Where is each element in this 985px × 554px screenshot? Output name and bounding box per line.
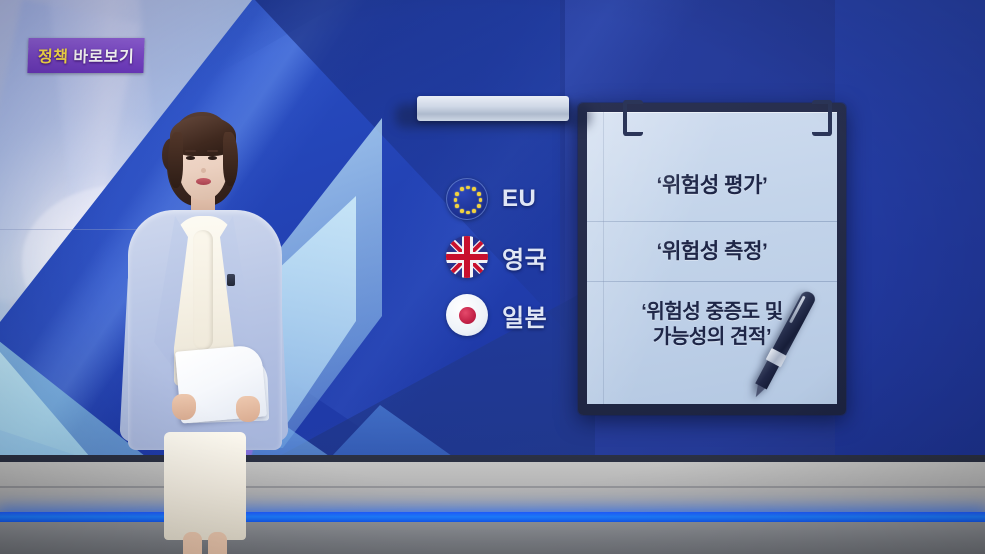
anchor-hand-right xyxy=(236,396,260,422)
anchor-leg-left xyxy=(183,532,202,554)
eu-star xyxy=(466,211,470,215)
anchor-leg-right xyxy=(208,532,227,554)
anchor-scarf xyxy=(193,230,213,350)
eu-star xyxy=(472,209,476,213)
clipboard-graphic: ‘위험성 평가’ ‘위험성 측정’ ‘위험성 중증도 및 가능성의 견적’ xyxy=(578,103,846,415)
clipboard-entry: ‘위험성 측정’ xyxy=(587,222,837,282)
eu-star xyxy=(466,186,470,190)
uk-flag-icon xyxy=(446,236,488,278)
eu-star xyxy=(455,204,459,208)
flag-label-japan: 일본 xyxy=(502,298,547,333)
anchor-mouth xyxy=(196,178,211,185)
program-badge-rest: 바로보기 xyxy=(73,49,134,66)
eu-star xyxy=(479,198,483,202)
clipboard-clip-bracket-right xyxy=(812,100,832,136)
clipboard-entry-text: ‘위험성 평가’ xyxy=(657,173,768,199)
clipboard-entry-text: ‘위험성 중증도 및 가능성의 견적’ xyxy=(641,300,782,350)
eu-flag-icon xyxy=(446,178,488,220)
broadcast-frame: 정책 바로보기 EU xyxy=(0,0,985,554)
eu-star xyxy=(460,187,464,191)
anchor-eye-left xyxy=(186,156,195,160)
flag-list-item-eu: EU xyxy=(446,178,547,220)
clipboard-entry-list: ‘위험성 평가’ ‘위험성 측정’ ‘위험성 중증도 및 가능성의 견적’ xyxy=(587,150,837,404)
anchor-eye-right xyxy=(208,156,217,160)
clipboard-paper: ‘위험성 평가’ ‘위험성 측정’ ‘위험성 중증도 및 가능성의 견적’ xyxy=(587,112,837,404)
clipboard-clip-bar xyxy=(417,96,569,121)
anchor-nose xyxy=(201,168,206,173)
news-anchor xyxy=(120,112,290,554)
flag-list-item-uk: 영국 xyxy=(446,236,547,278)
flag-label-eu: EU xyxy=(502,185,536,213)
anchor-lapel-mic xyxy=(227,274,235,286)
eu-star xyxy=(477,192,481,196)
japan-flag-icon xyxy=(446,294,488,336)
clipboard-entry-text: ‘위험성 측정’ xyxy=(657,239,768,265)
program-badge-accent: 정책 xyxy=(38,49,69,66)
flag-list-item-japan: 일본 xyxy=(446,294,547,336)
anchor-hair-side-left xyxy=(168,132,183,188)
eu-star xyxy=(460,209,464,213)
clipboard-clip-bracket-left xyxy=(623,100,643,136)
anchor-hand-left xyxy=(172,394,196,420)
anchor-hair-side-right xyxy=(223,132,238,186)
program-badge-label: 정책 바로보기 xyxy=(38,43,135,67)
clipboard-entry: ‘위험성 평가’ xyxy=(587,150,837,222)
studio-wall-far-right-panel xyxy=(835,0,985,465)
anchor-skirt xyxy=(164,432,246,540)
flag-label-uk: 영국 xyxy=(502,240,547,275)
eu-star xyxy=(454,198,458,202)
eu-star xyxy=(477,204,481,208)
eu-star xyxy=(455,192,459,196)
program-badge: 정책 바로보기 xyxy=(27,38,145,73)
eu-star xyxy=(472,187,476,191)
country-flag-list: EU 영국 일본 xyxy=(446,178,547,336)
